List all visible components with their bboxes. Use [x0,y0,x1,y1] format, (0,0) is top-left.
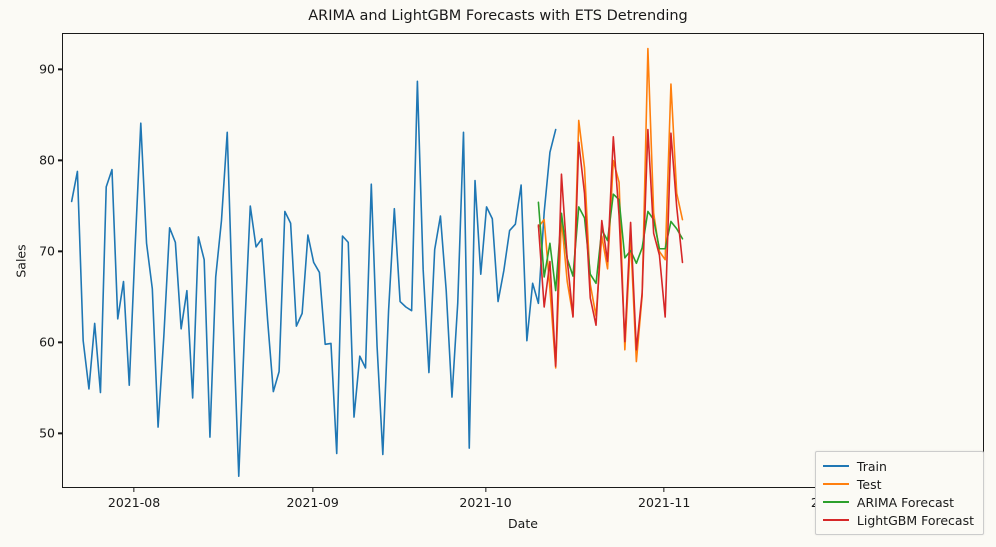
legend-swatch-train [823,465,849,467]
plot-area-wrapper: 5060708090 2021-082021-092021-102021-112… [62,33,984,488]
plot-axes [62,33,984,488]
x-tick-label: 2021-10 [459,495,511,510]
x-tick-mark [133,488,134,492]
y-tick-label: 90 [39,62,55,77]
y-axis-label: Sales [12,33,30,488]
x-tick-label: 2021-09 [287,495,339,510]
y-tick-mark [58,69,62,70]
x-tick-label: 2021-08 [108,495,160,510]
legend-swatch-test [823,483,849,485]
y-tick-mark [58,251,62,252]
series-line-train [72,81,556,476]
x-tick-mark [664,488,665,492]
legend-label-train: Train [857,459,887,474]
y-tick-label: 60 [39,335,55,350]
x-tick-mark [485,488,486,492]
y-tick-mark [58,342,62,343]
x-tick-label: 2021-11 [638,495,690,510]
y-tick-label: 70 [39,244,55,259]
legend-swatch-arima-forecast [823,501,849,503]
chart-figure: ARIMA and LightGBM Forecasts with ETS De… [0,0,996,547]
chart-title: ARIMA and LightGBM Forecasts with ETS De… [0,8,996,24]
legend-label-lightgbm-forecast: LightGBM Forecast [857,513,974,528]
legend-item-test: Test [823,475,974,493]
legend-item-arima-forecast: ARIMA Forecast [823,493,974,511]
chart-legend: Train Test ARIMA Forecast LightGBM Forec… [815,451,984,535]
chart-lines [63,34,984,488]
legend-item-train: Train [823,457,974,475]
series-line-lightgbm-forecast [538,130,682,367]
y-tick-label: 50 [39,426,55,441]
legend-label-arima-forecast: ARIMA Forecast [857,495,954,510]
y-tick-label: 80 [39,153,55,168]
legend-label-test: Test [857,477,882,492]
y-tick-mark [58,433,62,434]
y-tick-mark [58,160,62,161]
x-tick-mark [312,488,313,492]
legend-swatch-lightgbm-forecast [823,519,849,521]
y-axis-label-text: Sales [14,244,29,277]
legend-item-lightgbm-forecast: LightGBM Forecast [823,511,974,529]
